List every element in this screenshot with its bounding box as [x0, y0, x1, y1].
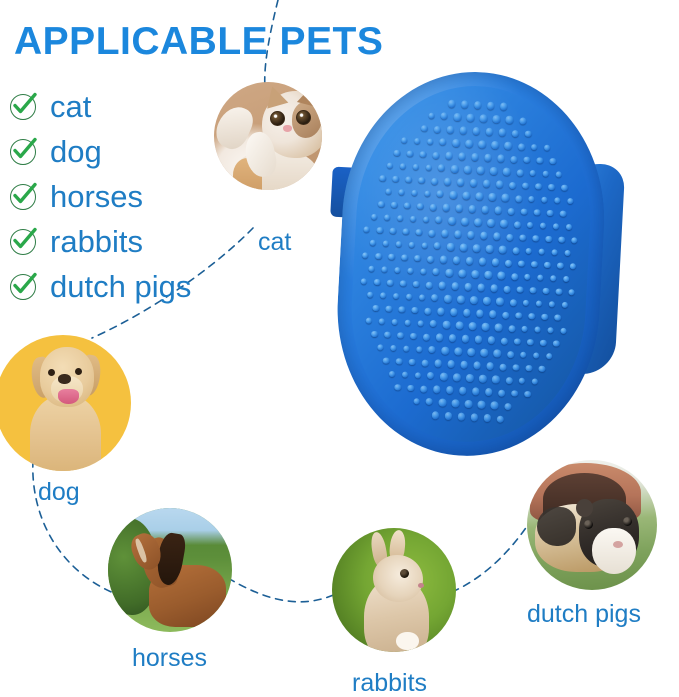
checklist-item-horses: horses	[8, 174, 191, 219]
checklist-item-rabbits: rabbits	[8, 219, 191, 264]
infographic-canvas: APPLICABLE PETS cat dog	[0, 0, 679, 697]
horse-photo	[108, 508, 232, 632]
pet-checklist: cat dog horses	[8, 84, 191, 309]
check-circle-icon	[8, 137, 38, 167]
checklist-item-dog: dog	[8, 129, 191, 174]
dog-photo	[0, 335, 131, 471]
pet-photo-horses	[108, 508, 232, 632]
check-circle-icon	[8, 272, 38, 302]
checklist-label: horses	[50, 181, 143, 212]
connector-horses-to-rabbits	[228, 578, 340, 602]
check-circle-icon	[8, 182, 38, 212]
pet-grooming-brush-product	[312, 54, 633, 469]
guinea-pig-photo	[527, 460, 657, 590]
checklist-label: dutch pigs	[50, 271, 191, 302]
pet-label-cat: cat	[258, 228, 291, 257]
checklist-label: dog	[50, 136, 102, 167]
pet-photo-cat	[214, 82, 322, 190]
brush-bristle-nubs	[345, 80, 597, 448]
brush-pad	[330, 65, 612, 462]
cat-photo	[214, 82, 322, 190]
pet-photo-dutch-pigs	[527, 460, 657, 590]
brush-pad-surface	[345, 80, 597, 448]
check-circle-icon	[8, 227, 38, 257]
pet-label-rabbits: rabbits	[352, 669, 427, 697]
check-circle-icon	[8, 92, 38, 122]
rabbit-photo	[332, 528, 456, 652]
page-title: APPLICABLE PETS	[14, 20, 383, 64]
pet-photo-rabbits	[332, 528, 456, 652]
checklist-item-cat: cat	[8, 84, 191, 129]
pet-label-dutch-pigs: dutch pigs	[527, 600, 641, 629]
checklist-item-dutch-pigs: dutch pigs	[8, 264, 191, 309]
pet-label-dog: dog	[38, 478, 80, 507]
pet-photo-dog	[0, 335, 131, 471]
checklist-label: cat	[50, 91, 91, 122]
checklist-label: rabbits	[50, 226, 143, 257]
pet-label-horses: horses	[132, 644, 207, 673]
